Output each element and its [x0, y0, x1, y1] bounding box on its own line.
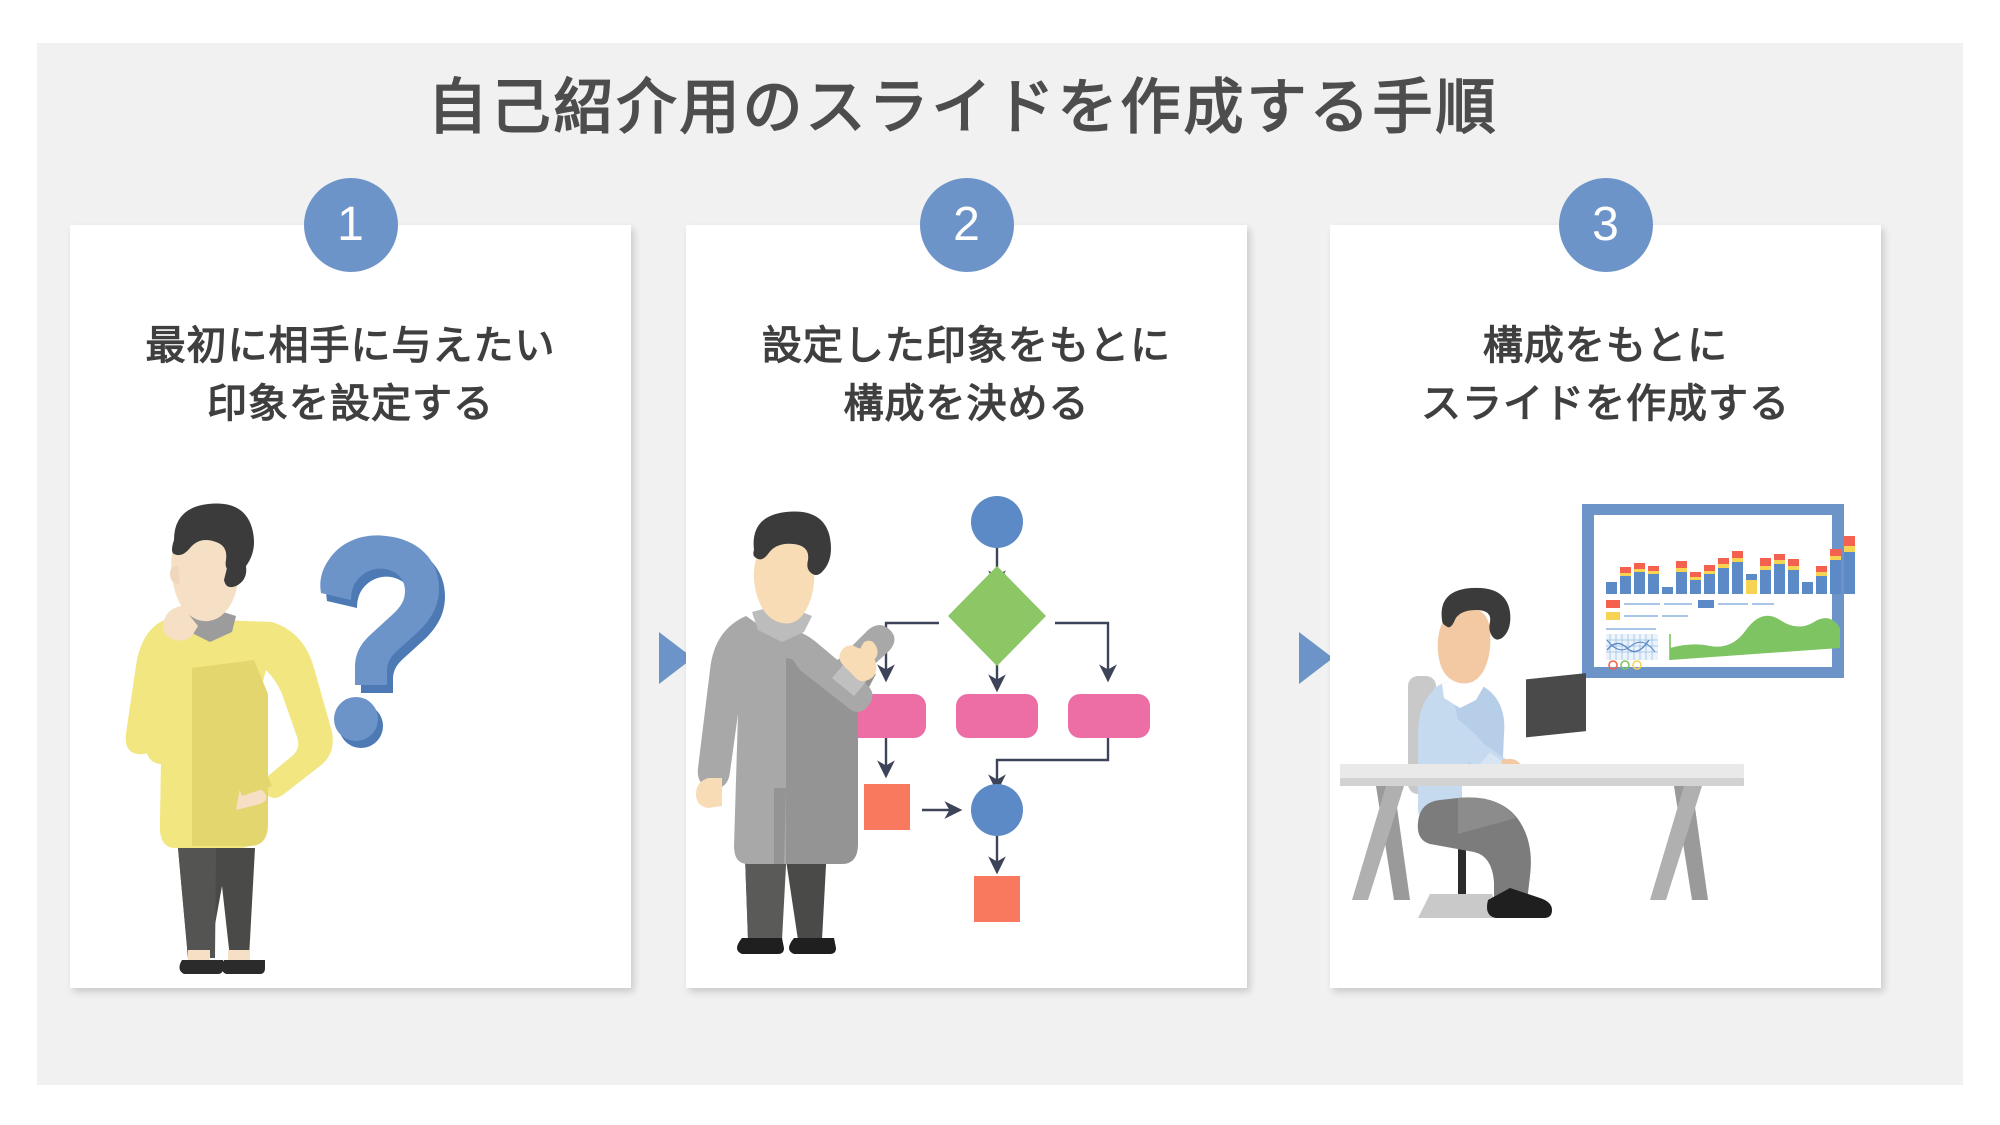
step-number-badge-3: 3: [1559, 178, 1653, 272]
flow-node-mid: [971, 784, 1023, 836]
step-card-title-line-1: 構成をもとに: [1330, 317, 1881, 375]
slide-canvas: 自己紹介用のスライドを作成する手順 1 最初に相手に与えたい 印象を設定する: [0, 0, 2000, 1125]
presentation-screen: [1582, 504, 1855, 678]
illustration-flowchart-person: [686, 488, 1247, 988]
flowchart-diagram: [846, 496, 1150, 922]
illustration-thinking-person: [70, 488, 631, 988]
flow-node-decision: [948, 566, 1046, 666]
step-card-title-line-2: 構成を決める: [686, 375, 1247, 433]
page-title: 自己紹介用のスライドを作成する手順: [0, 72, 1926, 144]
step-card-title-2: 設定した印象をもとに 構成を決める: [686, 317, 1247, 433]
flow-node-square-1: [864, 784, 910, 830]
step-card-1[interactable]: 1 最初に相手に与えたい 印象を設定する: [70, 225, 631, 988]
flow-node-start: [971, 496, 1023, 548]
illustration-desk-worker: [1330, 488, 1881, 988]
step-card-title-line-1: 最初に相手に与えたい: [70, 317, 631, 375]
flow-node-square-2: [974, 876, 1020, 922]
step-card-title-line-2: 印象を設定する: [70, 375, 631, 433]
step-card-3[interactable]: 3 構成をもとに スライドを作成する: [1330, 225, 1881, 988]
step-card-title-line-1: 設定した印象をもとに: [686, 317, 1247, 375]
step-number-badge-1: 1: [304, 178, 398, 272]
question-mark-icon: [320, 535, 445, 748]
step-card-title-line-2: スライドを作成する: [1330, 375, 1881, 433]
flow-node-process-2: [956, 694, 1038, 738]
arrow-step-2-to-3: [1295, 630, 1335, 686]
triangle-right-icon: [1299, 632, 1333, 684]
step-card-title-1: 最初に相手に与えたい 印象を設定する: [70, 317, 631, 433]
step-card-title-3: 構成をもとに スライドを作成する: [1330, 317, 1881, 433]
flow-node-process-3: [1068, 694, 1150, 738]
step-card-2[interactable]: 2 設定した印象をもとに 構成を決める: [686, 225, 1247, 988]
step-number-badge-2: 2: [920, 178, 1014, 272]
